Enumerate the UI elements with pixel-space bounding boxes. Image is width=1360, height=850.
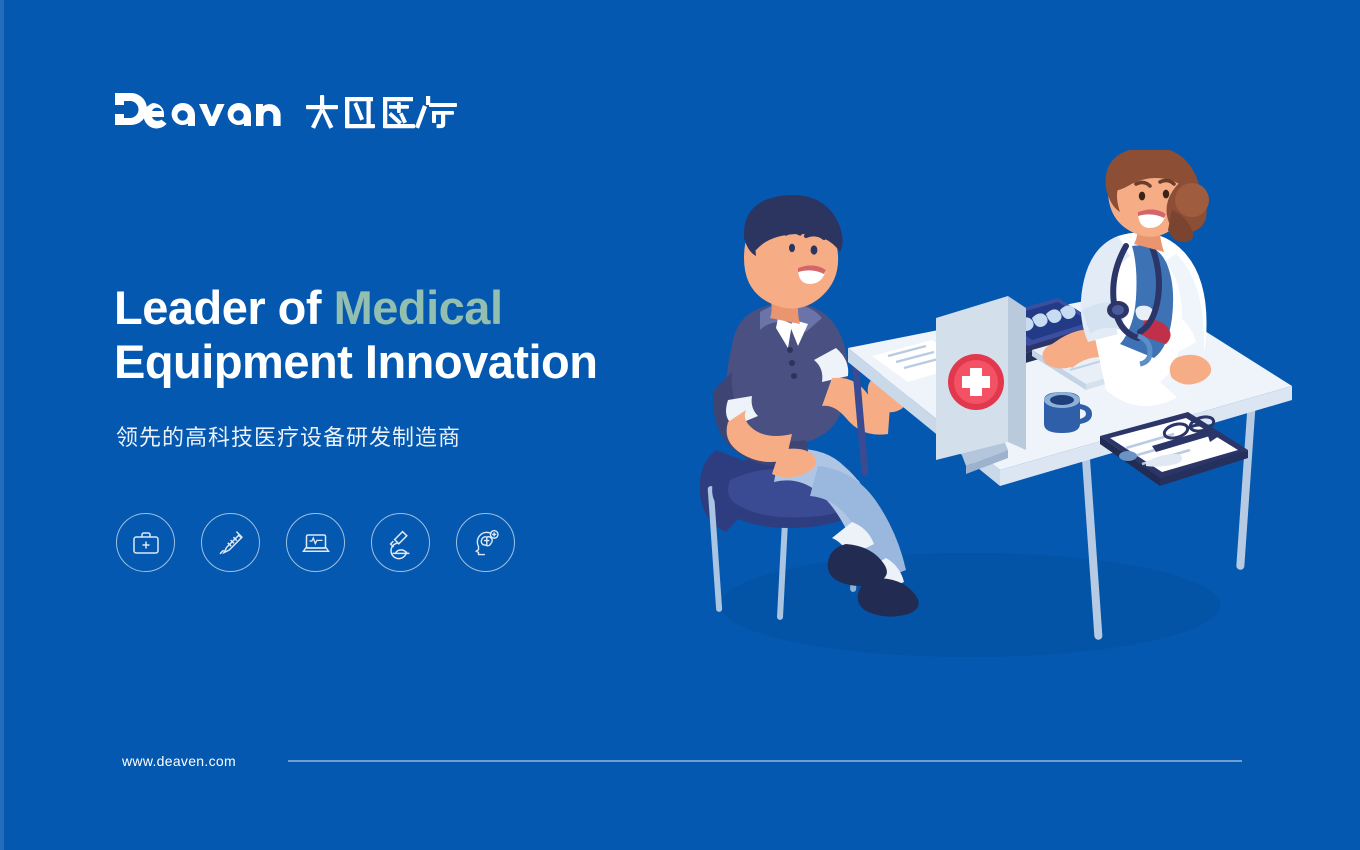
headline-line1-plain: Leader of bbox=[114, 281, 334, 334]
deavan-wordmark-icon bbox=[113, 89, 293, 135]
website-url[interactable]: www.deaven.com bbox=[122, 753, 236, 769]
male-patient bbox=[713, 195, 918, 617]
syringe-icon[interactable] bbox=[201, 513, 260, 572]
footer: www.deaven.com bbox=[122, 753, 1242, 769]
doctor-consulting-patient-illustration bbox=[620, 150, 1320, 710]
floor-shadow bbox=[720, 553, 1220, 657]
brain-head-plus-icon[interactable] bbox=[456, 513, 515, 572]
microscope-icon[interactable] bbox=[371, 513, 430, 572]
slide-root: Leader of Medical Equipment Innovation 领… bbox=[0, 0, 1360, 850]
footer-divider bbox=[288, 760, 1242, 762]
feature-icon-row bbox=[116, 513, 515, 572]
page-subtitle: 领先的高科技医疗设备研发制造商 bbox=[116, 420, 461, 452]
headline-line1-accent: Medical bbox=[334, 281, 503, 334]
female-doctor bbox=[1042, 150, 1211, 406]
first-aid-kit-icon[interactable] bbox=[116, 513, 175, 572]
eraser bbox=[1119, 451, 1137, 461]
left-edge-strip bbox=[0, 0, 4, 850]
brand-name-cn-icon bbox=[303, 92, 461, 132]
illustration-svg bbox=[620, 150, 1320, 710]
laptop-vitals-icon[interactable] bbox=[286, 513, 345, 572]
headline-line2: Equipment Innovation bbox=[114, 335, 597, 388]
brand-logo[interactable] bbox=[113, 88, 461, 136]
